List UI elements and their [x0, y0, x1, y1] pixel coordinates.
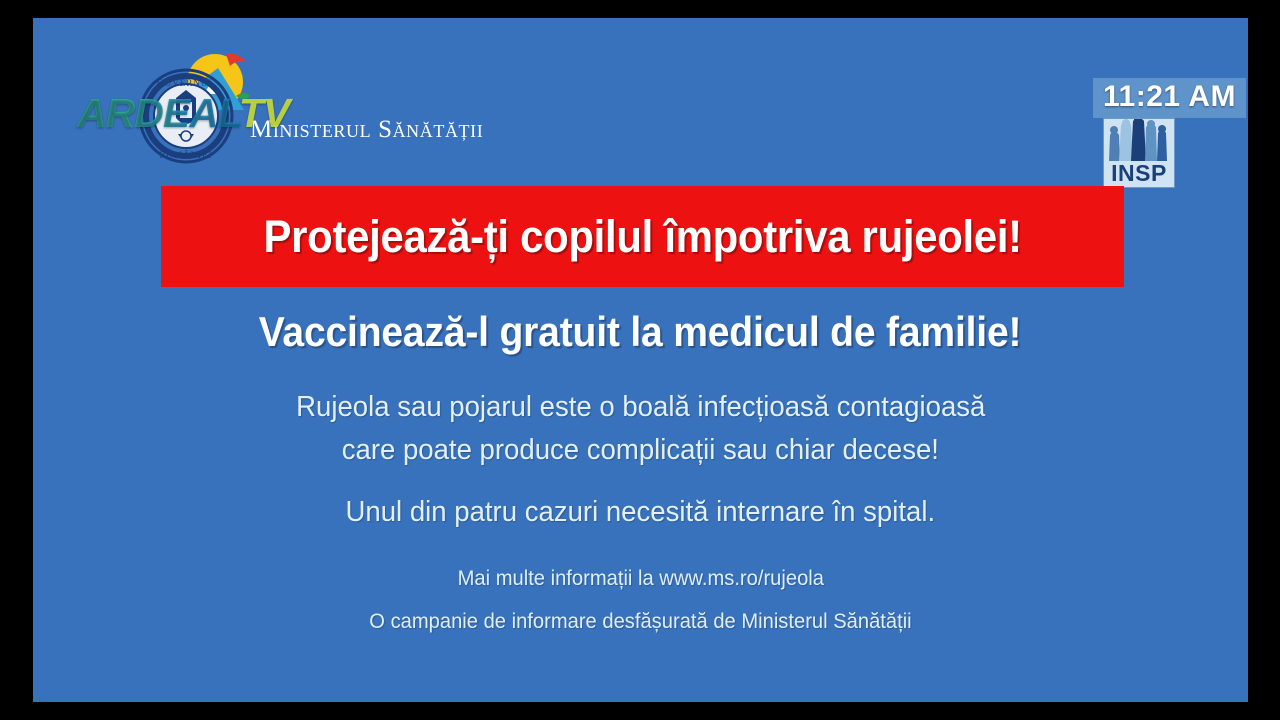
body-line: Rujeola sau pojarul este o boală infecți… — [33, 386, 1248, 429]
ardeal-tv-watermark: ARDEALTV — [77, 90, 289, 137]
clock-time-display: 11:21 AM — [1093, 78, 1246, 118]
subheadline-text: Vaccinează-l gratuit la medicul de famil… — [259, 308, 1022, 356]
public-health-campaign-slide: GUVERNUL ROMÂNIEI Ministerul Sănătății A… — [33, 18, 1248, 702]
body-line-text: care poate produce complicații sau chiar… — [342, 429, 939, 472]
footer-info-line: Mai multe informații la www.ms.ro/rujeol… — [33, 567, 1248, 591]
insp-logo-label: INSP — [1104, 162, 1174, 185]
subheadline: Vaccinează-l gratuit la medicul de famil… — [33, 308, 1248, 356]
headline-text: Protejează-ți copilul împotriva rujeolei… — [263, 211, 1021, 263]
body-line-text: Rujeola sau pojarul este o boală infecți… — [296, 386, 985, 429]
insp-logo: INSP — [1103, 118, 1175, 188]
footer-campaign-line: O campanie de informare desfășurată de M… — [33, 610, 1248, 634]
footer-info-text: Mai multe informații la www.ms.ro/rujeol… — [457, 567, 823, 591]
body-line-text: Unul din patru cazuri necesită internare… — [346, 496, 936, 529]
tv-broadcast-screenshot: GUVERNUL ROMÂNIEI Ministerul Sănătății A… — [0, 0, 1280, 720]
body-line: care poate produce complicații sau chiar… — [33, 429, 1248, 472]
watermark-tv-text: TV — [239, 90, 289, 136]
watermark-ardeal-text: ARDEAL — [77, 90, 239, 136]
footer-campaign-text: O campanie de informare desfășurată de M… — [369, 610, 911, 634]
headline-banner: Protejează-ți copilul împotriva rujeolei… — [161, 186, 1124, 287]
insp-people-logo-icon — [1104, 119, 1172, 165]
body-line: Unul din patru cazuri necesită internare… — [33, 496, 1248, 529]
body-paragraph-2: Unul din patru cazuri necesită internare… — [33, 496, 1248, 529]
svg-text:ROMÂNIEI: ROMÂNIEI — [160, 150, 213, 160]
svg-text:GUVERNUL: GUVERNUL — [157, 78, 215, 88]
body-paragraph-1: Rujeola sau pojarul este o boală infecți… — [33, 386, 1248, 472]
